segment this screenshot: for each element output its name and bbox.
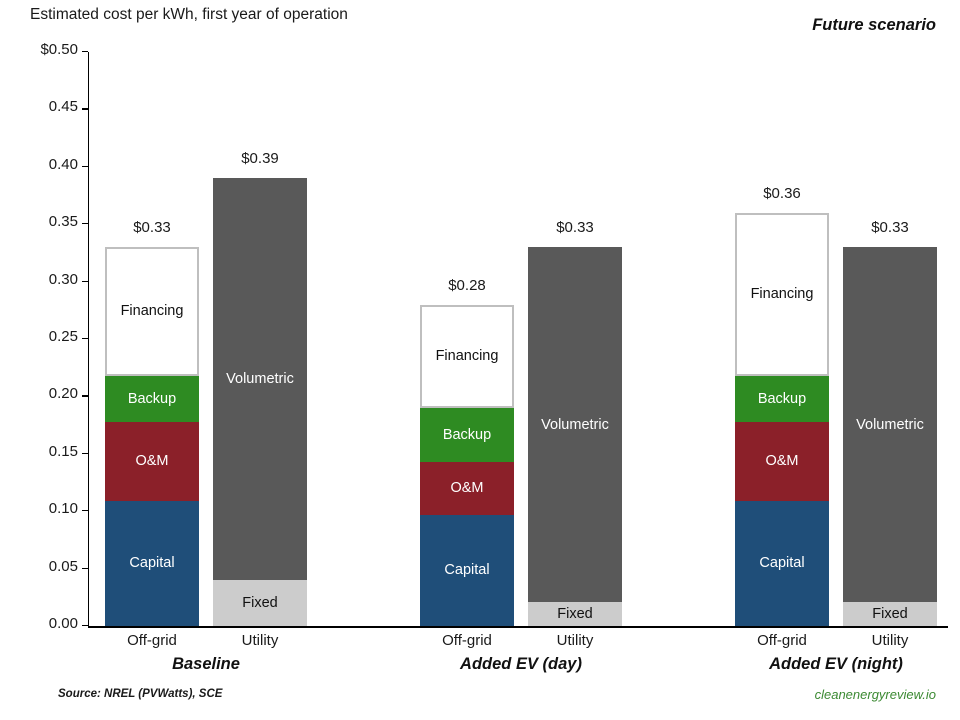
y-axis-tick-label: 0.30 <box>49 271 78 288</box>
bar-segment[interactable]: Fixed <box>843 602 937 626</box>
stacked-bar[interactable]: FixedVolumetric <box>843 247 937 626</box>
stacked-bar[interactable]: FixedVolumetric <box>528 247 622 626</box>
y-axis-tick-mark <box>82 281 88 282</box>
y-axis-tick-mark <box>82 166 88 167</box>
y-axis-tick-label: 0.15 <box>49 443 78 460</box>
bar-segment-label: Financing <box>121 303 184 319</box>
x-axis-category-label: Utility <box>505 632 645 649</box>
bar-segment[interactable]: Backup <box>105 376 199 422</box>
bar-segment[interactable]: Capital <box>735 501 829 626</box>
stacked-bar[interactable]: FixedVolumetric <box>213 178 307 626</box>
bar-total-label: $0.36 <box>712 185 852 202</box>
y-axis-tick-mark <box>82 625 88 626</box>
y-axis-tick-label: 0.05 <box>49 558 78 575</box>
bar-segment-label: Backup <box>758 391 806 407</box>
y-axis-tick-mark <box>82 108 88 109</box>
y-axis-tick-label: $0.50 <box>40 41 78 58</box>
bar-segment-label: O&M <box>450 480 483 496</box>
y-axis-tick-label: 0.35 <box>49 213 78 230</box>
stacked-bar[interactable]: CapitalO&MBackupFinancing <box>735 213 829 626</box>
bar-total-label: $0.33 <box>505 219 645 236</box>
y-axis-tick-label: 0.45 <box>49 98 78 115</box>
bar-segment-label: Volumetric <box>226 371 294 387</box>
bar-segment-label: Capital <box>759 555 804 571</box>
y-axis-tick-label: 0.10 <box>49 500 78 517</box>
x-axis-group-label: Added EV (day) <box>371 655 671 674</box>
bar-segment[interactable]: O&M <box>420 462 514 515</box>
bar-segment[interactable]: O&M <box>735 422 829 501</box>
bar-segment-label: Fixed <box>242 595 277 611</box>
y-axis-tick-label: 0.00 <box>49 615 78 632</box>
bar-segment[interactable]: Financing <box>105 247 199 376</box>
x-axis-line <box>88 626 948 628</box>
bar-segment[interactable]: Volumetric <box>528 247 622 602</box>
bar-segment-label: Volumetric <box>856 417 924 433</box>
bar-segment-label: Capital <box>129 555 174 571</box>
bar-segment[interactable]: Fixed <box>528 602 622 626</box>
bar-total-label: $0.33 <box>82 219 222 236</box>
x-axis-group-label: Added EV (night) <box>686 655 960 674</box>
bar-segment-label: Volumetric <box>541 417 609 433</box>
y-axis-tick-mark <box>82 51 88 52</box>
bar-segment[interactable]: Backup <box>735 376 829 422</box>
stacked-bar[interactable]: CapitalO&MBackupFinancing <box>105 247 199 626</box>
y-axis-tick-mark <box>82 568 88 569</box>
y-axis-tick-mark <box>82 338 88 339</box>
bar-total-label: $0.33 <box>820 219 960 236</box>
bar-segment[interactable]: Backup <box>420 408 514 462</box>
y-axis-tick-mark <box>82 453 88 454</box>
bar-segment-label: Financing <box>751 286 814 302</box>
source-note: Source: NREL (PVWatts), SCE <box>58 688 222 700</box>
bar-segment-label: O&M <box>765 453 798 469</box>
bar-segment[interactable]: Volumetric <box>843 247 937 602</box>
bar-total-label: $0.28 <box>397 277 537 294</box>
stacked-bar[interactable]: CapitalO&MBackupFinancing <box>420 305 514 626</box>
bar-segment-label: O&M <box>135 453 168 469</box>
bar-segment-label: Financing <box>436 348 499 364</box>
x-axis-category-label: Utility <box>190 632 330 649</box>
bar-segment-label: Backup <box>128 391 176 407</box>
y-axis-tick-mark <box>82 395 88 396</box>
bar-segment[interactable]: Fixed <box>213 580 307 626</box>
bar-segment[interactable]: Financing <box>420 305 514 408</box>
y-axis-tick-label: 0.20 <box>49 385 78 402</box>
site-watermark: cleanenergyreview.io <box>815 687 936 702</box>
bar-segment[interactable]: Financing <box>735 213 829 376</box>
y-axis-tick-label: 0.40 <box>49 156 78 173</box>
bar-segment[interactable]: Capital <box>105 501 199 626</box>
bar-segment-label: Fixed <box>557 606 592 622</box>
plot-area: $0.500.450.400.350.300.250.200.150.100.0… <box>88 52 948 626</box>
bar-segment-label: Fixed <box>872 606 907 622</box>
bar-total-label: $0.39 <box>190 150 330 167</box>
scenario-label: Future scenario <box>812 16 936 35</box>
bar-segment[interactable]: Capital <box>420 515 514 626</box>
bar-segment[interactable]: O&M <box>105 422 199 501</box>
bar-segment-label: Backup <box>443 427 491 443</box>
page-title: Estimated cost per kWh, first year of op… <box>30 6 348 24</box>
x-axis-group-label: Baseline <box>56 655 356 674</box>
bar-segment-label: Capital <box>444 562 489 578</box>
x-axis-category-label: Utility <box>820 632 960 649</box>
y-axis-tick-label: 0.25 <box>49 328 78 345</box>
bar-segment[interactable]: Volumetric <box>213 178 307 580</box>
y-axis-tick-mark <box>82 510 88 511</box>
